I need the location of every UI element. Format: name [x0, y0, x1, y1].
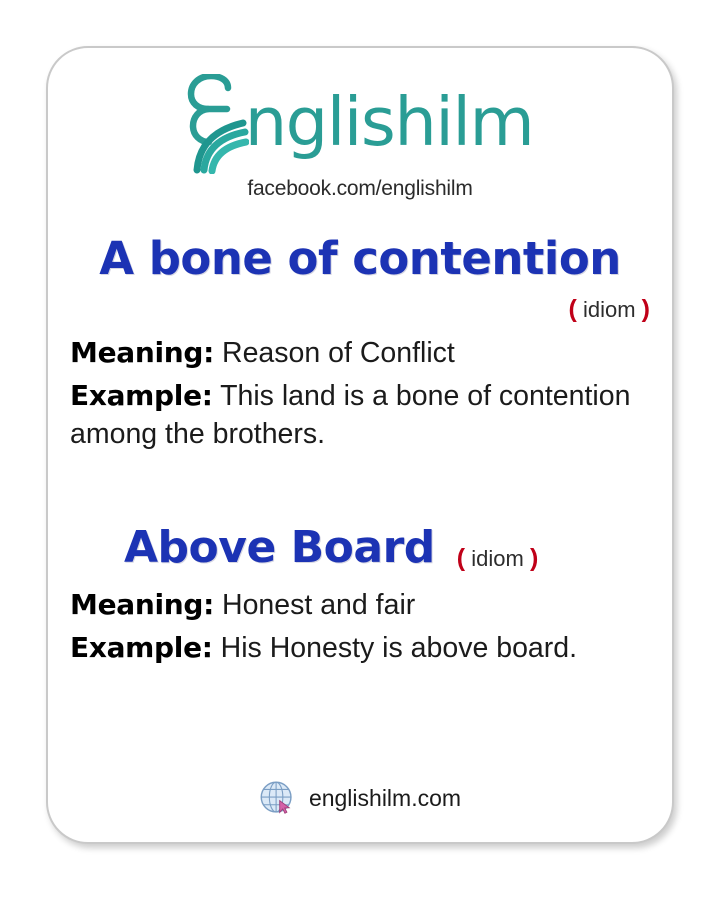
- meaning-line: Meaning: Honest and fair: [70, 586, 656, 625]
- idiom-title: A bone of contention: [48, 236, 672, 281]
- idiom-card: nglishilm facebook.com/englishilm A bone…: [46, 46, 674, 844]
- card-footer: englishilm.com: [48, 780, 672, 816]
- meaning-line: Meaning: Reason of Conflict: [70, 334, 656, 373]
- idiom-title-row: Above Board ( idiom ): [48, 526, 672, 570]
- englishilm-e-swoosh-logo-icon: [187, 74, 249, 174]
- tag-label: idiom: [583, 297, 636, 322]
- idiom-entry-1: A bone of contention ( idiom ) Meaning: …: [48, 236, 672, 458]
- logo-lockup: nglishilm: [187, 72, 534, 174]
- page-root: nglishilm facebook.com/englishilm A bone…: [0, 0, 720, 899]
- brand-header: nglishilm facebook.com/englishilm: [48, 72, 672, 201]
- example-line: Example: His Honesty is above board.: [70, 629, 656, 668]
- idiom-entry-2: Above Board ( idiom ) Meaning: Honest an…: [48, 526, 672, 672]
- facebook-url[interactable]: facebook.com/englishilm: [48, 177, 672, 201]
- meaning-text: Reason of Conflict: [222, 337, 455, 369]
- idiom-title: Above Board: [48, 526, 435, 570]
- example-label: Example:: [70, 631, 213, 664]
- idiom-tag: ( idiom ): [457, 544, 538, 573]
- idiom-tag: ( idiom ): [48, 295, 672, 324]
- example-text: His Honesty is above board.: [221, 632, 577, 664]
- definition-block: Meaning: Reason of Conflict Example: Thi…: [48, 334, 672, 454]
- example-label: Example:: [70, 379, 213, 412]
- tag-label: idiom: [471, 546, 524, 571]
- globe-icon: [259, 780, 295, 816]
- definition-block: Meaning: Honest and fair Example: His Ho…: [48, 586, 672, 668]
- brand-wordmark: nglishilm: [245, 72, 534, 172]
- meaning-text: Honest and fair: [222, 589, 415, 621]
- tag-close-paren: ): [530, 544, 538, 572]
- example-line: Example: This land is a bone of contenti…: [70, 377, 656, 454]
- tag-open-paren: (: [569, 295, 577, 323]
- website-label[interactable]: englishilm.com: [309, 785, 461, 812]
- tag-close-paren: ): [642, 295, 650, 323]
- tag-open-paren: (: [457, 544, 465, 572]
- meaning-label: Meaning:: [70, 588, 214, 621]
- meaning-label: Meaning:: [70, 336, 214, 369]
